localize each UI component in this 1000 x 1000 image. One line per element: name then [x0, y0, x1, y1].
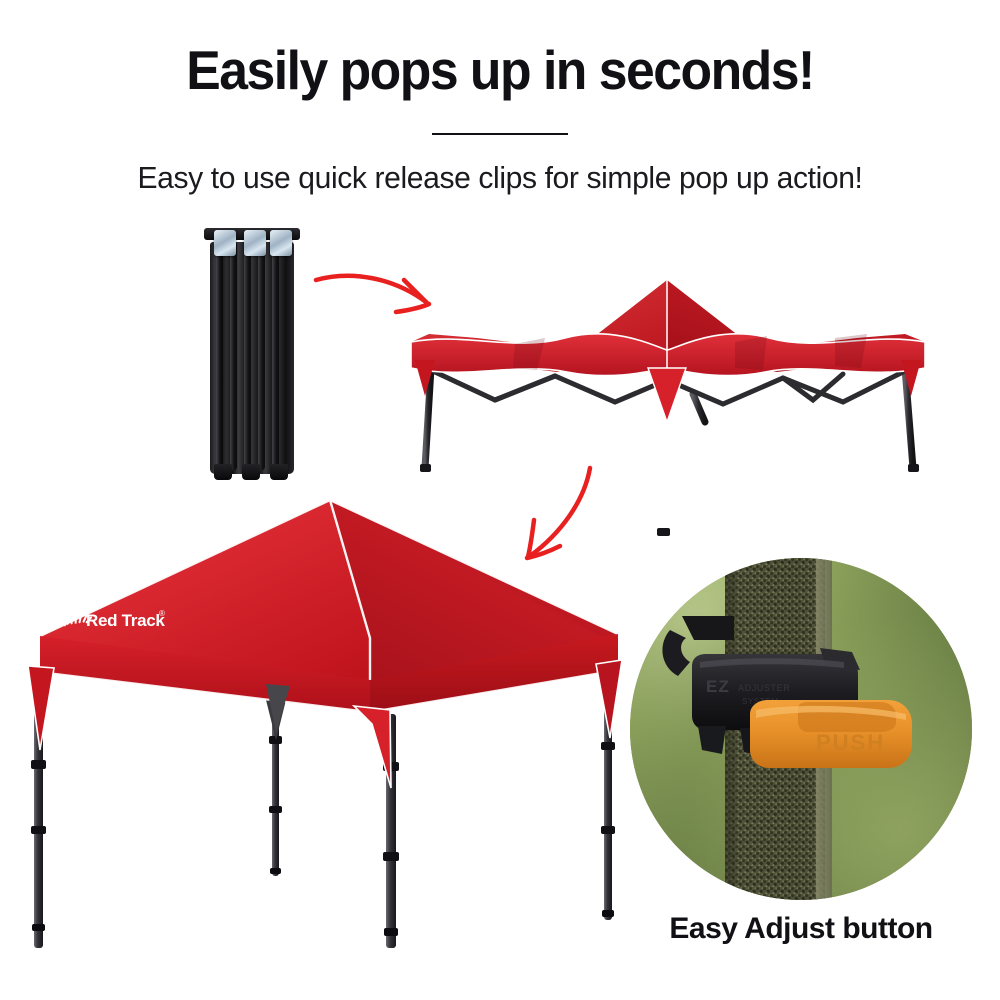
leg-foot [32, 924, 45, 931]
main-gazebo-valance-point [28, 666, 54, 750]
folded-frame-tube [244, 242, 251, 470]
folded-frame-figure [196, 228, 308, 480]
folded-frame-tube [216, 242, 223, 470]
leg-adjuster-collar [601, 742, 615, 750]
inset-orange-button: PUSH [750, 700, 912, 768]
clip-housing-label: EZ [706, 677, 730, 696]
page-subtitle: Easy to use quick release clips for simp… [15, 160, 985, 196]
leg-adjuster-collar [31, 760, 46, 769]
folded-frame-bracket [270, 230, 292, 256]
folded-frame-tube [258, 242, 265, 470]
inset-photo-content: EZ ADJUSTER SYSTEM PUSH [630, 558, 972, 900]
leg-adjuster-collar [601, 826, 615, 834]
svg-text:ADJUSTER: ADJUSTER [738, 683, 790, 693]
leg-adjuster-collar [31, 826, 46, 834]
leg-foot [270, 868, 281, 874]
brand-logo-text: Red Track [86, 611, 165, 630]
leg-adjuster-collar [383, 852, 399, 861]
folded-frame-foot [242, 464, 260, 480]
infographic-canvas: Easily pops up in seconds! Easy to use q… [0, 0, 1000, 1000]
leg-adjuster-collar [269, 806, 282, 813]
folded-frame-foot [214, 464, 232, 480]
main-gazebo-valance-point-front [354, 706, 391, 788]
title-divider [432, 133, 568, 135]
brand-registered-mark: ® [159, 609, 165, 618]
main-gazebo-valance-point [596, 660, 622, 738]
main-gazebo-leg-group [31, 686, 615, 948]
half-open-centre-point [648, 368, 686, 422]
folded-frame-bracket [244, 230, 266, 256]
leg-foot [384, 928, 398, 936]
inset-photo-easy-adjust: EZ ADJUSTER SYSTEM PUSH [630, 558, 972, 900]
folded-frame-tube [230, 242, 237, 470]
main-gazebo-figure: Red Track ® [18, 488, 643, 948]
push-button-label: PUSH [816, 730, 885, 755]
folded-frame-bracket [214, 230, 236, 256]
folded-frame-tube [272, 242, 279, 470]
page-title: Easily pops up in seconds! [30, 38, 970, 102]
folded-frame-foot [270, 464, 288, 480]
inset-caption: Easy Adjust button [620, 912, 982, 946]
leg-foot [602, 910, 614, 917]
